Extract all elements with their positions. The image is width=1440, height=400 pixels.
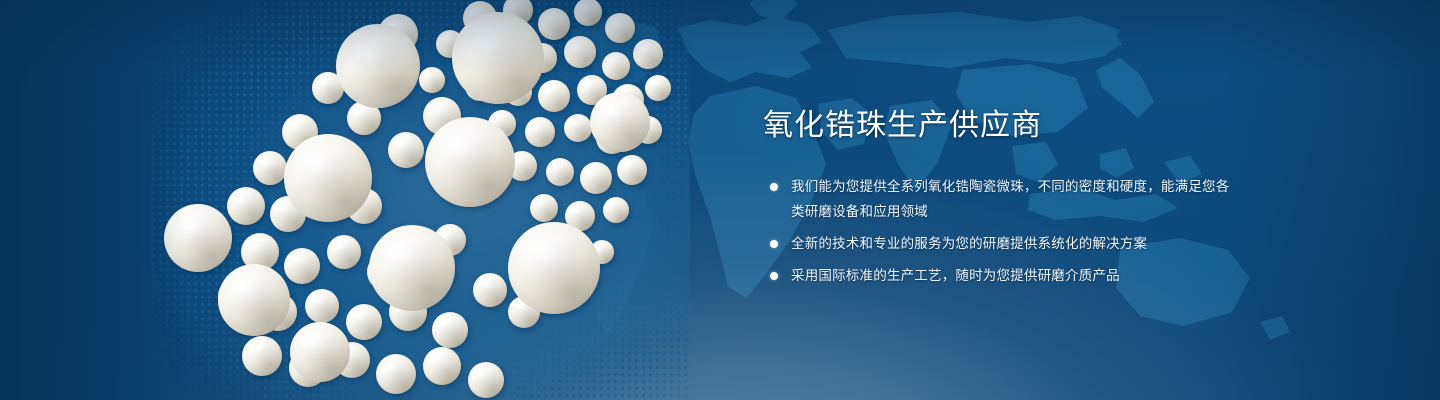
bullet-dot-icon bbox=[770, 240, 778, 248]
feature-bullet-list: 我们能为您提供全系列氧化锆陶瓷微珠，不同的密度和硬度，能满足您各类研磨设备和应用… bbox=[763, 174, 1233, 288]
banner-copy-block: 氧化锆珠生产供应商 我们能为您提供全系列氧化锆陶瓷微珠，不同的密度和硬度，能满足… bbox=[763, 106, 1233, 288]
bullet-text: 全新的技术和专业的服务为您的研磨提供系统化的解决方案 bbox=[791, 236, 1147, 251]
list-item: 全新的技术和专业的服务为您的研磨提供系统化的解决方案 bbox=[763, 231, 1233, 256]
bullet-text: 采用国际标准的生产工艺，随时为您提供研磨介质产品 bbox=[791, 268, 1120, 283]
list-item: 采用国际标准的生产工艺，随时为您提供研磨介质产品 bbox=[763, 263, 1233, 288]
page-title: 氧化锆珠生产供应商 bbox=[763, 106, 1233, 146]
bullet-dot-icon bbox=[770, 272, 778, 280]
bullet-dot-icon bbox=[770, 183, 778, 191]
hero-banner: 氧化锆珠生产供应商 我们能为您提供全系列氧化锆陶瓷微珠，不同的密度和硬度，能满足… bbox=[0, 0, 1440, 400]
bullet-text: 我们能为您提供全系列氧化锆陶瓷微珠，不同的密度和硬度，能满足您各类研磨设备和应用… bbox=[791, 179, 1229, 219]
list-item: 我们能为您提供全系列氧化锆陶瓷微珠，不同的密度和硬度，能满足您各类研磨设备和应用… bbox=[763, 174, 1233, 224]
